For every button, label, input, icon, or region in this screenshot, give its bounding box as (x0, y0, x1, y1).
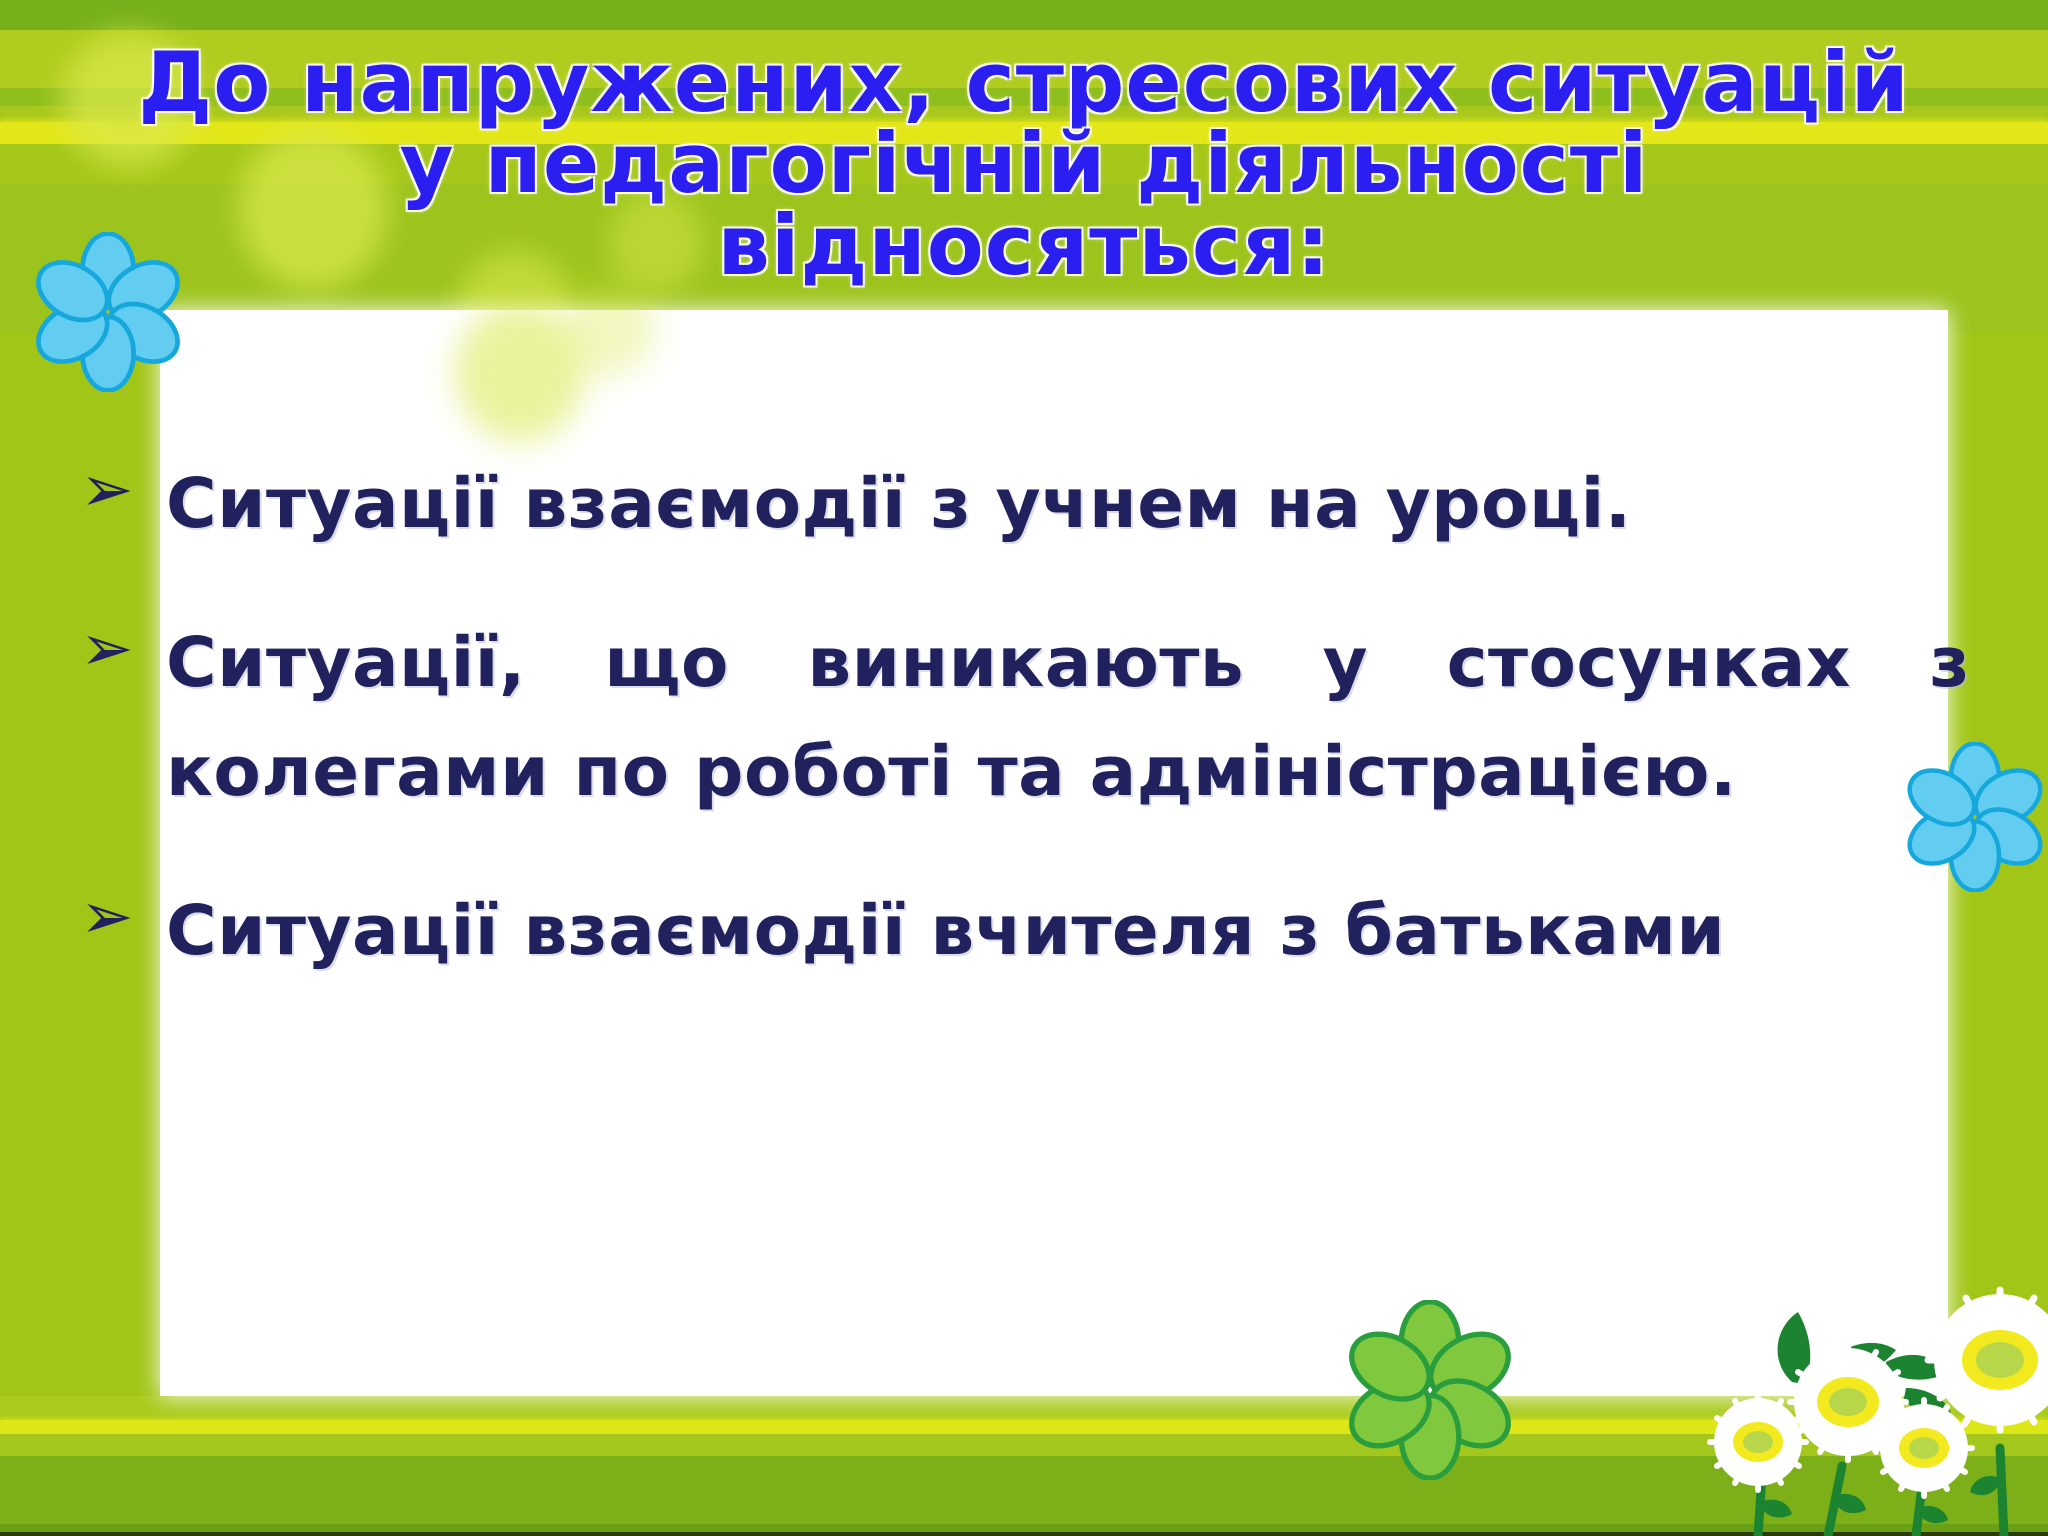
bullet-list: ➢ Ситуації взаємодії з учнем на уроці. ➢… (80, 450, 1970, 1036)
list-item-label: Ситуації взаємодії вчителя з батьками (166, 877, 1970, 986)
background-yellow-stripe-bottom (0, 1420, 2048, 1434)
background-lower-band-e (0, 1532, 2048, 1536)
list-item: ➢ Ситуації взаємодії з учнем на уроці. (80, 450, 1970, 559)
list-item-label: Ситуації, що виникають у стосунках з кол… (166, 609, 1970, 827)
arrow-bullet-icon: ➢ (80, 609, 166, 681)
arrow-bullet-icon: ➢ (80, 450, 166, 522)
background-lower-band-a (0, 1396, 2048, 1420)
arrow-bullet-icon: ➢ (80, 877, 166, 949)
background-top-dark-band (0, 0, 2048, 30)
list-item-label: Ситуації взаємодії з учнем на уроці. (166, 450, 1970, 559)
slide-canvas: До напружених, стресових ситуацій у педа… (0, 0, 2048, 1536)
list-item: ➢ Ситуації взаємодії вчителя з батьками (80, 877, 1970, 986)
background-lower-band-c (0, 1456, 2048, 1524)
list-item: ➢ Ситуації, що виникають у стосунках з к… (80, 609, 1970, 827)
decor-circle-5 (455, 302, 585, 442)
background-lower-band-b (0, 1434, 2048, 1456)
background-lower-band-d (0, 1524, 2048, 1532)
page-title: До напружених, стресових ситуацій у педа… (0, 42, 2048, 286)
